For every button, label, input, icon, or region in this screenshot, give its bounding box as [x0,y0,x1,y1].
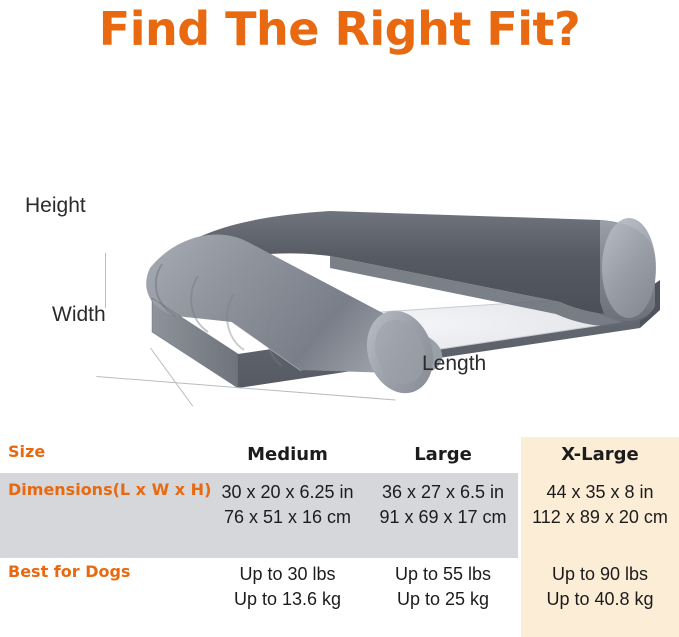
value-metric: 76 x 51 x 16 cm [210,505,365,530]
value-imperial: 30 x 20 x 6.25 in [210,480,365,505]
value-metric: Up to 25 kg [365,587,521,612]
dog-bed-graphic [0,70,679,420]
callout-label-height: Height [25,194,86,218]
row-label-dimensions: Dimensions(L x W x H) [0,480,210,499]
size-spec-table: Size Medium Large X-Large Dimensions(L x… [0,430,679,637]
value-imperial: Up to 90 lbs [521,562,679,587]
table-row-best-for-dogs: Best for Dogs Up to 30 lbs Up to 13.6 kg… [0,562,679,612]
column-header-medium: Medium [210,442,365,467]
value-metric: Up to 40.8 kg [521,587,679,612]
row-label-best-for-dogs: Best for Dogs [0,562,210,581]
cell-dimensions-xlarge: 44 x 35 x 8 in 112 x 89 x 20 cm [521,480,679,530]
cell-dimensions-large: 36 x 27 x 6.5 in 91 x 69 x 17 cm [365,480,521,530]
value-imperial: 44 x 35 x 8 in [521,480,679,505]
page-title: Find The Right Fit? [0,2,679,56]
product-illustration [0,70,679,420]
value-imperial: Up to 55 lbs [365,562,521,587]
cell-weight-medium: Up to 30 lbs Up to 13.6 kg [210,562,365,612]
cell-weight-large: Up to 55 lbs Up to 25 kg [365,562,521,612]
table-header-row: Size Medium Large X-Large [0,442,679,467]
callout-label-width: Width [52,303,106,327]
table-row-dimensions: Dimensions(L x W x H) 30 x 20 x 6.25 in … [0,480,679,530]
column-header-large: Large [365,442,521,467]
callout-label-length: Length [422,352,486,376]
row-label-size: Size [0,442,210,461]
value-metric: Up to 13.6 kg [210,587,365,612]
column-header-xlarge: X-Large [521,442,679,467]
height-leader-line [105,253,106,308]
cell-dimensions-medium: 30 x 20 x 6.25 in 76 x 51 x 16 cm [210,480,365,530]
value-metric: 112 x 89 x 20 cm [521,505,679,530]
value-imperial: 36 x 27 x 6.5 in [365,480,521,505]
value-imperial: Up to 30 lbs [210,562,365,587]
cell-weight-xlarge: Up to 90 lbs Up to 40.8 kg [521,562,679,612]
value-metric: 91 x 69 x 17 cm [365,505,521,530]
